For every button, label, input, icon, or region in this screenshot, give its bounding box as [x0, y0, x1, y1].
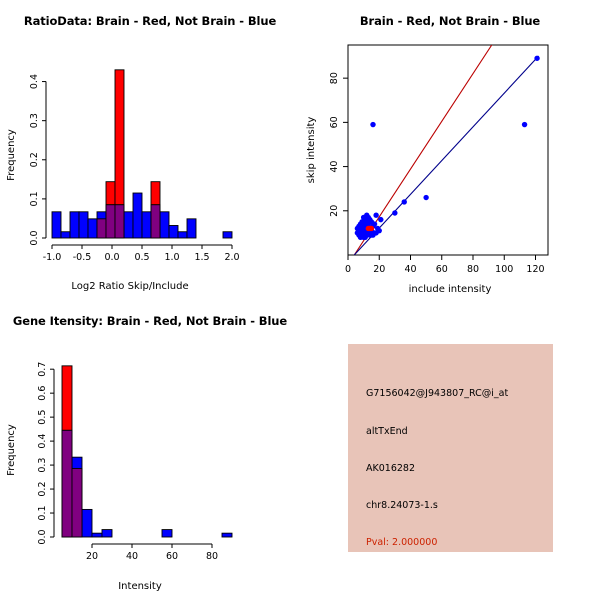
scatter-fit-lines — [354, 45, 538, 255]
scatter-point — [423, 195, 428, 200]
scatter-plot-frame — [348, 45, 548, 255]
histogram-bar-blue — [52, 212, 61, 238]
x-axis-tick-label: 1.5 — [194, 252, 209, 263]
y-axis-tick-label: 0.5 — [37, 410, 48, 425]
x-axis-tick-label: 1.0 — [164, 252, 179, 263]
scatter-point — [369, 226, 374, 231]
scatter-point — [370, 122, 375, 127]
scatter-point — [534, 56, 539, 61]
pval-text: Pval: 2.000000 — [366, 537, 437, 548]
scatter-point — [355, 230, 360, 235]
y-axis-tick-label: 0.4 — [37, 434, 48, 449]
histogram-bar-blue — [178, 232, 187, 238]
x-axis-tick-label: 0.5 — [134, 252, 149, 263]
x-axis-tick-label: -1.0 — [43, 252, 62, 263]
x-axis-tick-label: 120 — [526, 264, 544, 275]
y-axis-tick-label: 0.0 — [37, 529, 48, 544]
y-axis-tick-label: 80 — [329, 72, 340, 84]
histogram-bar-blue — [187, 219, 196, 238]
histogram-bar-blue — [102, 530, 112, 537]
histogram-bar-blue — [133, 193, 142, 238]
x-axis-tick-label: 80 — [206, 551, 218, 562]
y-axis-tick-label: 0.7 — [37, 362, 48, 377]
scatter-plot-box — [348, 45, 548, 255]
annotation-panel: G7156042@J943807_RC@i_at altTxEnd AK0162… — [300, 300, 600, 600]
histogram-bar-blue — [169, 225, 178, 238]
annotation-box: G7156042@J943807_RC@i_at altTxEnd AK0162… — [348, 344, 553, 552]
gene-intensity-panel: Gene Itensity: Brain - Red, Not Brain - … — [0, 300, 300, 600]
gene-intensity-xlabel: Intensity — [118, 581, 162, 592]
intensity-scatter-svg: 20406080020406080100120 include intensit… — [300, 0, 600, 300]
histogram-bar-overlap — [62, 430, 72, 537]
gene-intensity-svg: 0.00.10.20.30.40.50.60.720406080 Intensi… — [0, 300, 300, 600]
ratio-histogram-ylabel: Frequency — [6, 129, 17, 181]
gene-intensity-ylabel: Frequency — [6, 424, 17, 476]
locus-text: chr8.24073-1.s — [366, 500, 438, 511]
x-axis-tick-label: 100 — [495, 264, 513, 275]
histogram-bar-overlap — [151, 205, 160, 238]
y-axis-tick-label: 0.1 — [29, 191, 40, 206]
histogram-bar-blue — [79, 212, 88, 238]
histogram-bar-blue — [70, 212, 79, 238]
histogram-bar-overlap — [97, 219, 106, 238]
y-axis-tick-label: 0.2 — [29, 152, 40, 167]
histogram-bar-overlap — [115, 205, 124, 238]
scatter-point — [372, 221, 377, 226]
histogram-bar-blue — [82, 509, 92, 537]
intensity-scatter-panel: Brain - Red, Not Brain - Blue 2040608002… — [300, 0, 600, 300]
histogram-bar-blue — [124, 212, 133, 238]
ratio-histogram-svg: 0.00.10.20.30.4-1.0-0.50.00.51.01.52.0 L… — [0, 0, 300, 300]
gene-intensity-title: Gene Itensity: Brain - Red, Not Brain - … — [0, 314, 300, 328]
scatter-point — [522, 122, 527, 127]
scatter-point — [402, 199, 407, 204]
scatter-point — [377, 228, 382, 233]
x-axis-tick-label: 0.0 — [104, 252, 119, 263]
accession-text: AK016282 — [366, 463, 415, 474]
x-axis-tick-label: 40 — [126, 551, 138, 562]
scatter-point — [392, 210, 397, 215]
histogram-bar-blue — [61, 232, 70, 238]
x-axis-tick-label: 60 — [436, 264, 448, 275]
gene-intensity-bars — [62, 366, 232, 537]
histogram-bar-blue — [222, 533, 232, 537]
intensity-scatter-title: Brain - Red, Not Brain - Blue — [300, 14, 600, 28]
y-axis-tick-label: 0.6 — [37, 386, 48, 401]
x-axis-tick-label: 2.0 — [224, 252, 239, 263]
y-axis-tick-label: 0.2 — [37, 482, 48, 497]
x-axis-tick-label: 20 — [86, 551, 98, 562]
histogram-bar-blue — [88, 219, 97, 238]
y-axis-tick-label: 0.3 — [37, 458, 48, 473]
ratio-histogram-title: RatioData: Brain - Red, Not Brain - Blue — [0, 14, 300, 28]
x-axis-tick-label: 60 — [166, 551, 178, 562]
scatter-point — [378, 217, 383, 222]
scatter-xlabel: include intensity — [409, 284, 492, 295]
x-axis-tick-label: 80 — [467, 264, 479, 275]
ratio-histogram-xlabel: Log2 Ratio Skip/Include — [71, 281, 188, 292]
histogram-bar-blue — [223, 232, 232, 238]
x-axis-tick-label: 20 — [373, 264, 385, 275]
x-axis-tick-label: 0 — [345, 264, 351, 275]
ratio-histogram-panel: RatioData: Brain - Red, Not Brain - Blue… — [0, 0, 300, 300]
histogram-bar-blue — [142, 212, 151, 238]
y-axis-tick-label: 60 — [329, 116, 340, 128]
y-axis-tick-label: 0.0 — [29, 230, 40, 245]
probeset-id-text: G7156042@J943807_RC@i_at — [366, 388, 508, 399]
event-type-text: altTxEnd — [366, 426, 408, 437]
x-axis-tick-label: 40 — [404, 264, 416, 275]
scatter-ylabel: skip intensity — [306, 117, 317, 184]
scatter-fit-line — [354, 56, 538, 255]
histogram-bar-blue — [92, 533, 102, 537]
y-axis-tick-label: 20 — [329, 205, 340, 217]
y-axis-tick-label: 0.4 — [29, 74, 40, 89]
ratio-histogram-bars — [52, 70, 232, 238]
x-axis-tick-label: -0.5 — [73, 252, 92, 263]
y-axis-tick-label: 40 — [329, 161, 340, 173]
scatter-point — [373, 213, 378, 218]
y-axis-tick-label: 0.3 — [29, 113, 40, 128]
histogram-bar-blue — [160, 212, 169, 238]
scatter-point — [370, 232, 375, 237]
histogram-bar-overlap — [72, 468, 82, 537]
histogram-bar-overlap — [106, 205, 115, 238]
y-axis-tick-label: 0.1 — [37, 505, 48, 520]
histogram-bar-blue — [162, 530, 172, 537]
